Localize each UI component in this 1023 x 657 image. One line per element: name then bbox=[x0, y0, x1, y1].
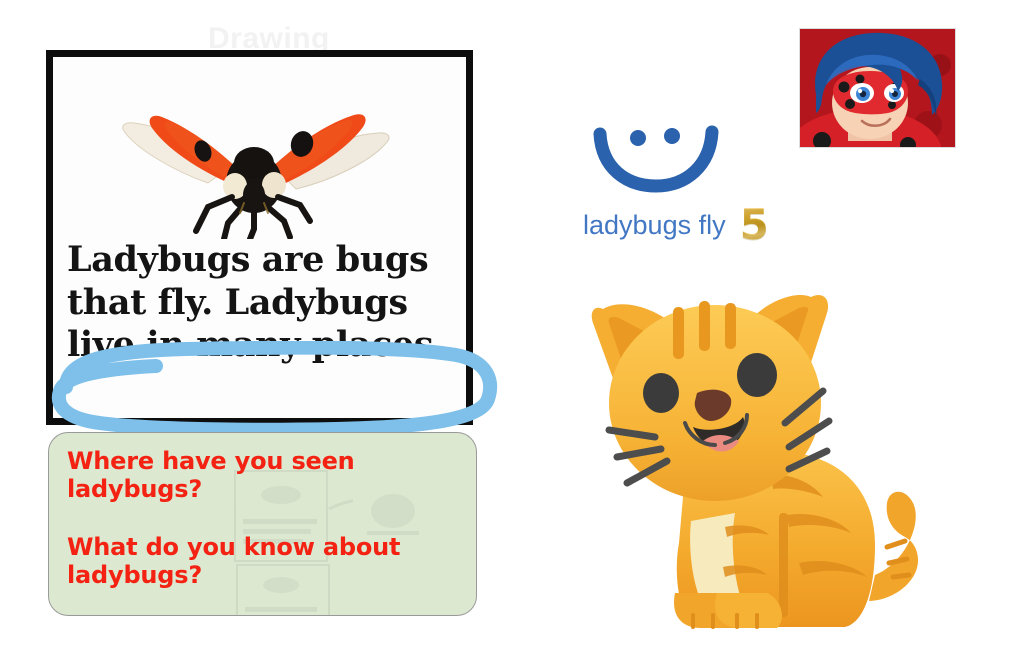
question-1: Where have you seen ladybugs? bbox=[67, 447, 458, 503]
ladybug-photo-area bbox=[53, 57, 466, 239]
miraculous-ladybug-thumbnail[interactable] bbox=[799, 28, 956, 148]
gold-number-five: 5 bbox=[740, 204, 769, 246]
discussion-questions-card[interactable]: Where have you seen ladybugs? What do yo… bbox=[48, 432, 477, 616]
caption-line-3: live in many places. bbox=[67, 324, 458, 367]
slide-canvas: Drawing bbox=[0, 0, 1023, 657]
ladybugs-fly-text: ladybugs fly bbox=[583, 210, 726, 241]
caption-line-2: that fly. Ladybugs bbox=[67, 282, 458, 325]
caption-line-1: Ladybugs are bugs bbox=[67, 239, 458, 282]
question-2: What do you know about ladybugs? bbox=[67, 533, 458, 589]
ladybug-flying-photo bbox=[104, 71, 404, 239]
blue-smiley-face-icon bbox=[586, 116, 726, 194]
ladybug-reading-slide[interactable]: Ladybugs are bugs that fly. Ladybugs liv… bbox=[46, 50, 473, 425]
orange-tabby-cat-emoji bbox=[575, 275, 947, 640]
ladybugs-fly-line: ladybugs fly 5 bbox=[583, 204, 769, 246]
ladybug-character-art bbox=[800, 29, 955, 147]
slide-caption: Ladybugs are bugs that fly. Ladybugs liv… bbox=[67, 239, 458, 367]
slide-inner-surface: Ladybugs are bugs that fly. Ladybugs liv… bbox=[53, 57, 466, 418]
